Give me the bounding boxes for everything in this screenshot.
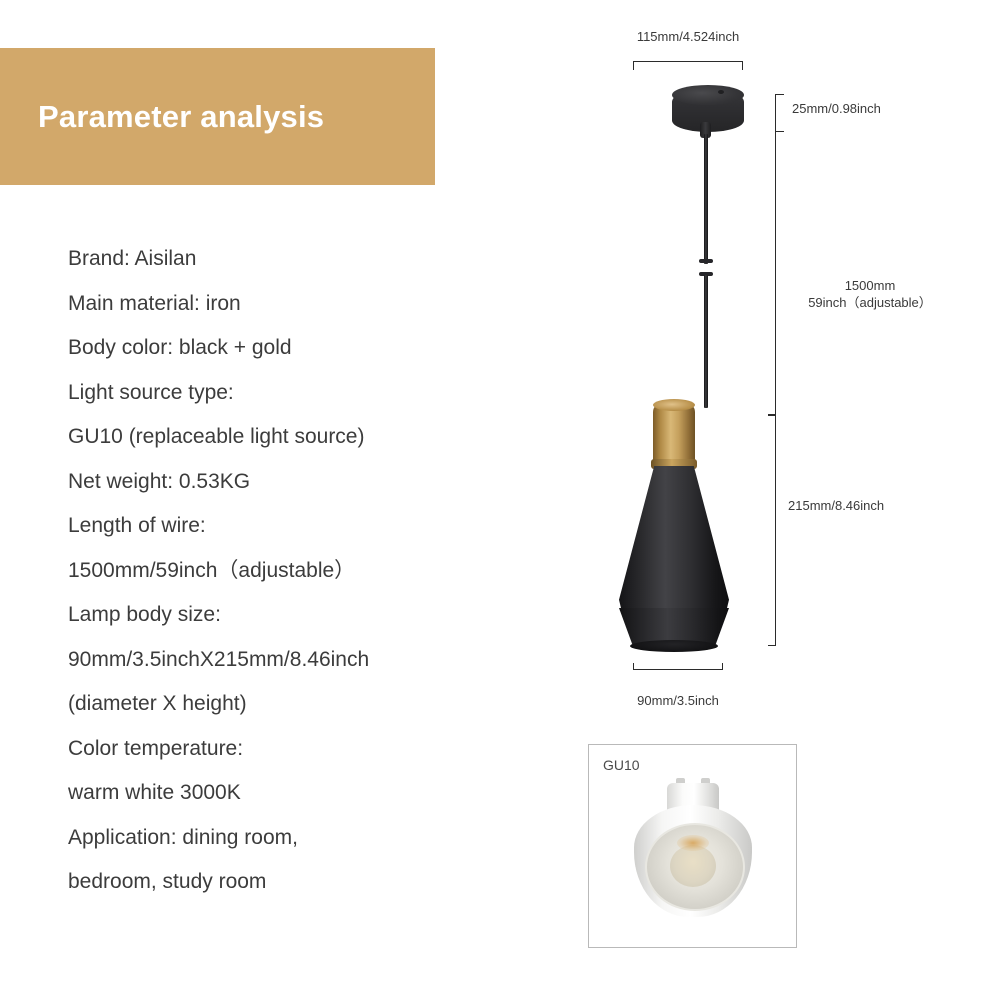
gu10-bulb-lens	[670, 845, 716, 887]
gold-socket-cap	[653, 403, 695, 465]
spec-line-lamp-body-size-value: 90mm/3.5inchX215mm/8.46inch	[68, 638, 468, 683]
spec-line-main-material: Main material: iron	[68, 282, 468, 327]
body-height-label: 215mm/8.46inch	[788, 497, 884, 514]
gu10-bulb-image	[624, 783, 762, 925]
spec-line-wire-length-value: 1500mm/59inch（adjustable）	[68, 549, 468, 594]
spec-line-net-weight: Net weight: 0.53KG	[68, 460, 468, 505]
ceiling-canopy-top-face	[672, 85, 744, 105]
spec-line-application-1: Application: dining room,	[68, 816, 468, 861]
canopy-height-dimension-line	[775, 94, 776, 132]
spec-line-brand: Brand: Aisilan	[68, 237, 468, 282]
body-height-dimension-line	[775, 415, 776, 646]
canopy-width-bracket-right-tick	[742, 61, 743, 70]
gu10-bulb-box: GU10	[588, 744, 797, 948]
canopy-width-label: 115mm/4.524inch	[608, 28, 768, 45]
shade-bottom-rim	[630, 640, 718, 652]
body-diameter-label: 90mm/3.5inch	[618, 692, 738, 709]
spec-line-body-color: Body color: black + gold	[68, 326, 468, 371]
canopy-screw-hole	[718, 90, 724, 94]
canopy-width-bracket-left-tick	[633, 61, 634, 70]
hanging-cord-lower	[704, 275, 708, 408]
pendant-lamp-dimension-diagram: 115mm/4.524inch 25mm/0.98inch 1500mm 59i…	[560, 0, 1000, 740]
spec-line-light-source-type: Light source type:	[68, 371, 468, 416]
canopy-height-bottom-tick	[775, 131, 784, 132]
spec-line-color-temperature-value: warm white 3000K	[68, 771, 468, 816]
specification-list: Brand: Aisilan Main material: iron Body …	[68, 237, 468, 905]
hanging-cord-upper	[704, 134, 708, 264]
body-height-top-tick	[768, 415, 776, 416]
body-diameter-right-tick	[722, 663, 723, 670]
wire-length-label-line2: 59inch（adjustable）	[765, 294, 975, 311]
body-diameter-left-tick	[633, 663, 634, 670]
canopy-height-top-tick	[775, 94, 784, 95]
wire-length-label-line1: 1500mm	[765, 277, 975, 294]
cord-adjuster-upper	[699, 259, 713, 263]
gu10-bulb-label: GU10	[603, 757, 640, 773]
black-cone-shade	[619, 466, 729, 618]
spec-line-lamp-body-size-note: (diameter X height)	[68, 682, 468, 727]
canopy-height-label: 25mm/0.98inch	[792, 100, 881, 117]
spec-line-light-source-value: GU10 (replaceable light source)	[68, 415, 468, 460]
canopy-width-bracket	[633, 61, 743, 62]
page-title: Parameter analysis	[38, 99, 324, 135]
gold-socket-cap-top	[653, 399, 695, 411]
wire-length-label: 1500mm 59inch（adjustable）	[765, 277, 975, 311]
spec-line-application-2: bedroom, study room	[68, 860, 468, 905]
gu10-bulb-glow	[677, 835, 709, 851]
wire-length-dimension-line	[775, 131, 776, 415]
spec-line-lamp-body-size-label: Lamp body size:	[68, 593, 468, 638]
body-diameter-bracket	[633, 669, 723, 670]
spec-line-wire-length-label: Length of wire:	[68, 504, 468, 549]
body-height-bottom-tick	[768, 645, 776, 646]
spec-line-color-temperature-label: Color temperature:	[68, 727, 468, 772]
parameter-analysis-banner: Parameter analysis	[0, 48, 435, 185]
